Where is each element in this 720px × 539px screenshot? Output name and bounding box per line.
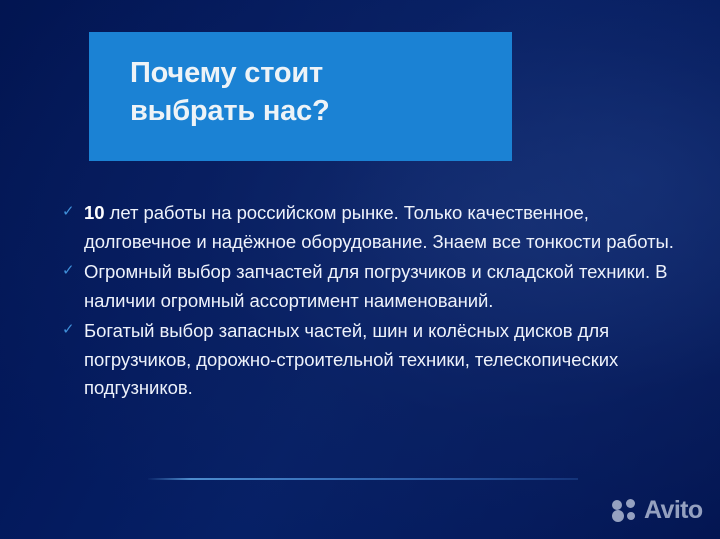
list-item: ✓ 10 лет работы на российском рынке. Тол… <box>62 199 682 256</box>
page-title: Почему стоит выбрать нас? <box>130 54 490 130</box>
list-item: ✓ Богатый выбор запасных частей, шин и к… <box>62 317 682 403</box>
slide-canvas: Почему стоит выбрать нас? ✓ 10 лет работ… <box>0 0 720 539</box>
check-icon: ✓ <box>62 204 84 219</box>
avito-wordmark: Avito <box>644 498 703 523</box>
list-item-body: Огромный выбор запчастей для погрузчиков… <box>84 261 667 311</box>
avito-dots-logo-icon <box>612 499 639 522</box>
list-item: ✓ Огромный выбор запчастей для погрузчик… <box>62 258 682 315</box>
list-item-body: Богатый выбор запасных частей, шин и кол… <box>84 320 618 398</box>
benefits-list: ✓ 10 лет работы на российском рынке. Тол… <box>62 199 682 405</box>
divider-rule <box>148 478 578 480</box>
check-icon: ✓ <box>62 263 84 278</box>
title-banner: Почему стоит выбрать нас? <box>89 32 512 161</box>
avito-watermark: Avito <box>612 498 703 523</box>
list-item-text: 10 лет работы на российском рынке. Тольк… <box>84 199 682 256</box>
list-item-body: лет работы на российском рынке. Только к… <box>84 202 674 252</box>
check-icon: ✓ <box>62 322 84 337</box>
list-item-text: Огромный выбор запчастей для погрузчиков… <box>84 258 682 315</box>
list-item-text: Богатый выбор запасных частей, шин и кол… <box>84 317 682 403</box>
list-item-lead: 10 <box>84 202 104 223</box>
